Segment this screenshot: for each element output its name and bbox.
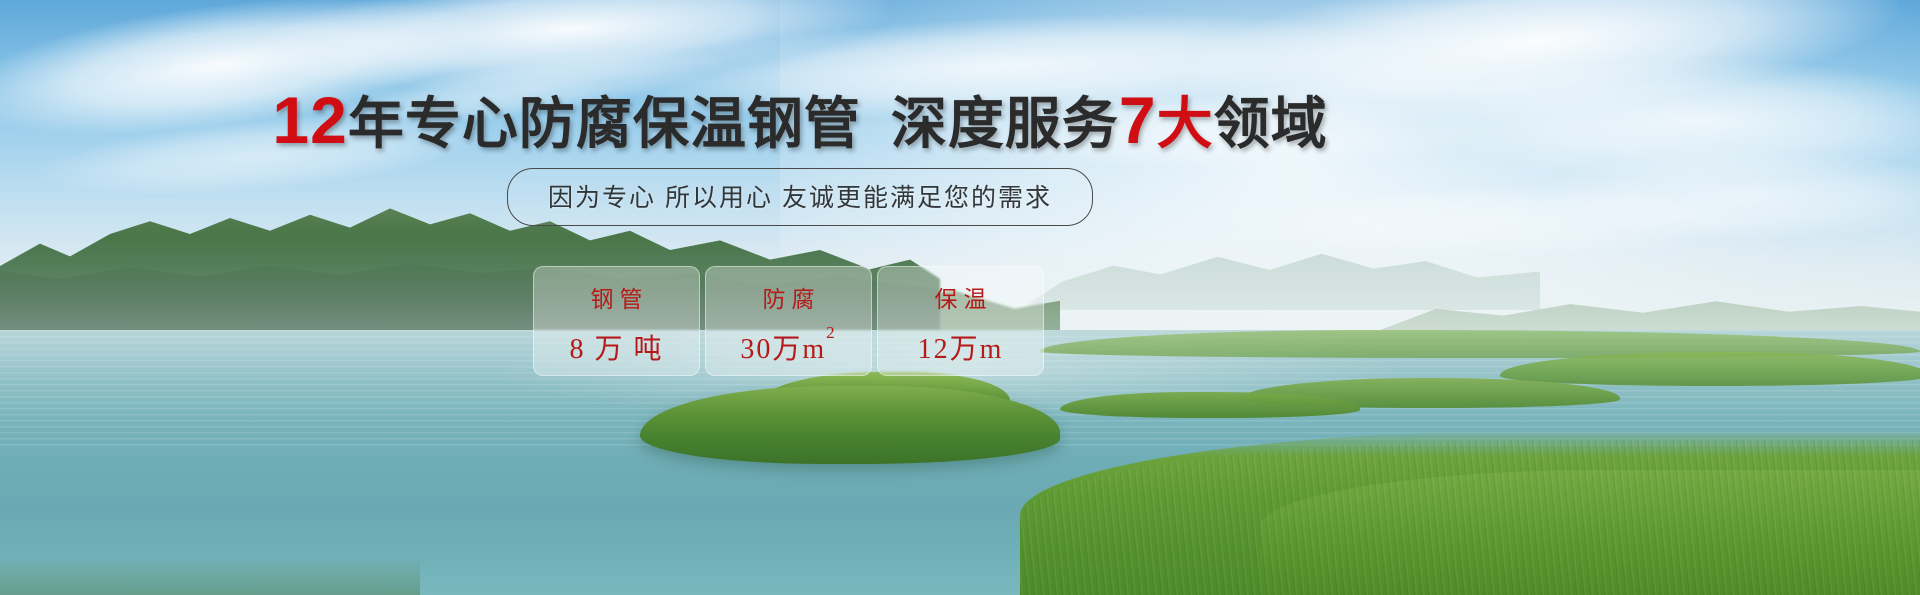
banner-content: 12年专心防腐保温钢管深度服务7大领域 因为专心 所以用心 友诚更能满足您的需求… xyxy=(0,0,1920,595)
stat-card-value: 30万m2 xyxy=(740,327,836,367)
stat-card-label: 防腐 xyxy=(757,280,821,314)
headline-year-number: 12 xyxy=(272,83,347,157)
stat-card-anticorrosion[interactable]: 防腐 30万m2 xyxy=(705,266,872,376)
stat-card-value: 12万m xyxy=(918,327,1004,367)
stat-card-label: 保温 xyxy=(929,280,993,314)
headline-text-part2: 深度服务 xyxy=(891,92,1119,155)
stat-card-steel-pipe[interactable]: 钢管 8 万 吨 xyxy=(533,266,700,376)
stat-cards: 钢管 8 万 吨 防腐 30万m2 保温 12万m xyxy=(533,266,1044,376)
stat-card-value-main: 30万m xyxy=(740,334,826,365)
headline-highlight-word: 大 xyxy=(1157,92,1214,155)
hero-banner: 12年专心防腐保温钢管深度服务7大领域 因为专心 所以用心 友诚更能满足您的需求… xyxy=(0,0,1920,595)
banner-headline: 12年专心防腐保温钢管深度服务7大领域 xyxy=(0,86,1600,155)
stat-card-label: 钢管 xyxy=(585,280,649,314)
headline-text-part3: 领域 xyxy=(1214,92,1328,155)
stat-card-value-main: 12万m xyxy=(918,334,1004,365)
headline-text-part1: 年专心防腐保温钢管 xyxy=(348,92,861,155)
stat-card-value: 8 万 吨 xyxy=(569,327,663,367)
banner-subtitle-pill: 因为专心 所以用心 友诚更能满足您的需求 xyxy=(507,168,1093,226)
banner-subtitle-wrap: 因为专心 所以用心 友诚更能满足您的需求 xyxy=(0,168,1600,226)
stat-card-value-superscript: 2 xyxy=(826,323,837,342)
stat-card-value-main: 8 万 吨 xyxy=(569,334,663,365)
headline-highlight-number: 7 xyxy=(1119,83,1157,157)
stat-card-insulation[interactable]: 保温 12万m xyxy=(877,266,1044,376)
